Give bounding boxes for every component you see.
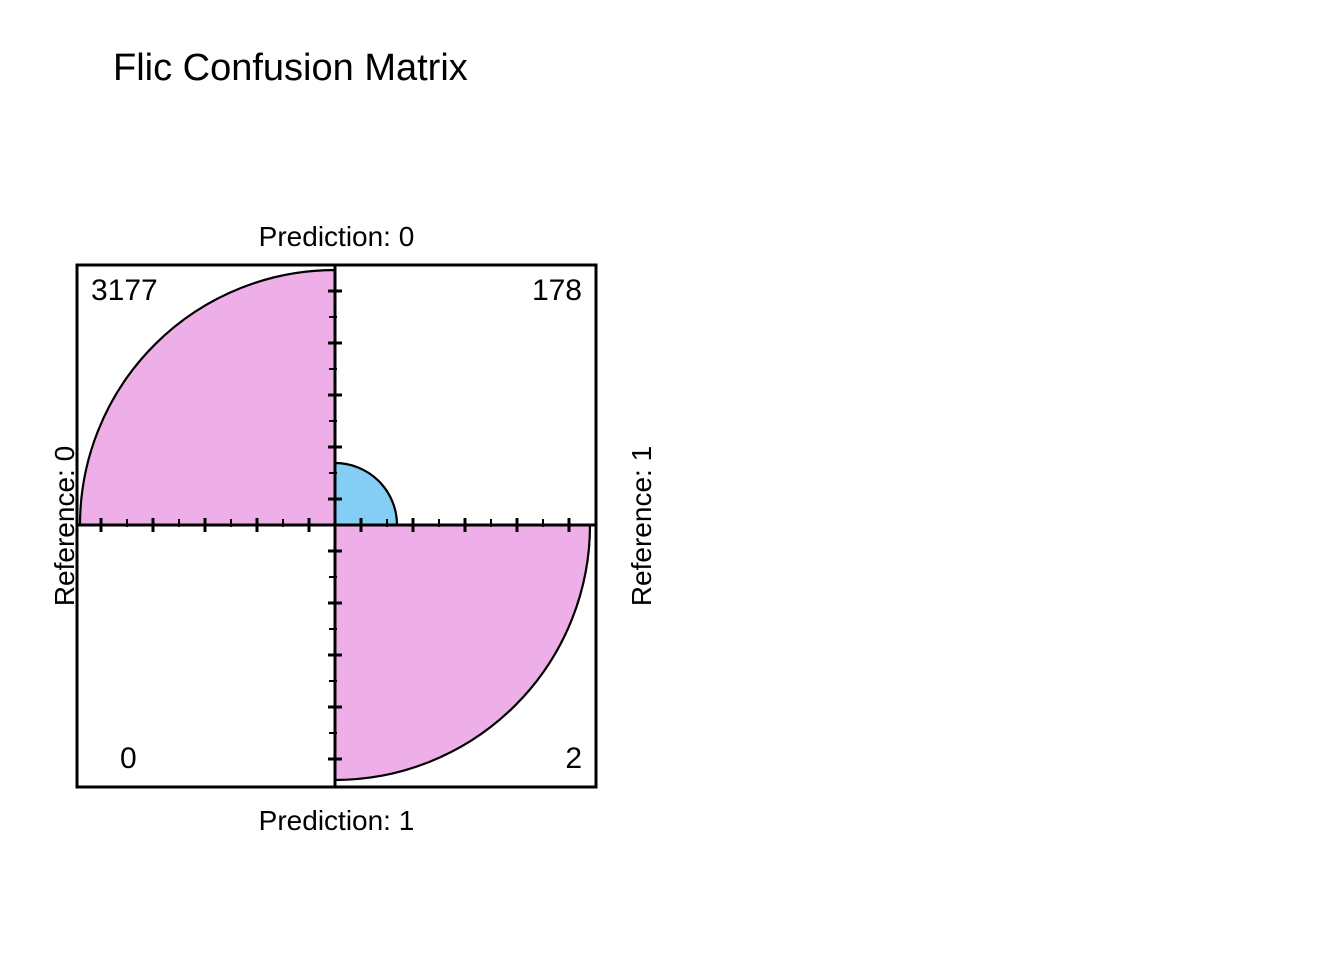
page-title: Flic Confusion Matrix (113, 46, 468, 90)
cell-count-top-left: 3177 (91, 274, 158, 308)
cell-count-bottom-left: 0 (120, 742, 137, 776)
axis-label-right: Reference: 1 (626, 265, 658, 787)
axis-label-top: Prediction: 0 (77, 221, 596, 253)
cell-count-bottom-right: 2 (382, 742, 582, 776)
cell-count-top-right: 178 (382, 274, 582, 308)
axis-label-bottom: Prediction: 1 (77, 805, 596, 837)
axis-label-left: Reference: 0 (49, 265, 81, 787)
